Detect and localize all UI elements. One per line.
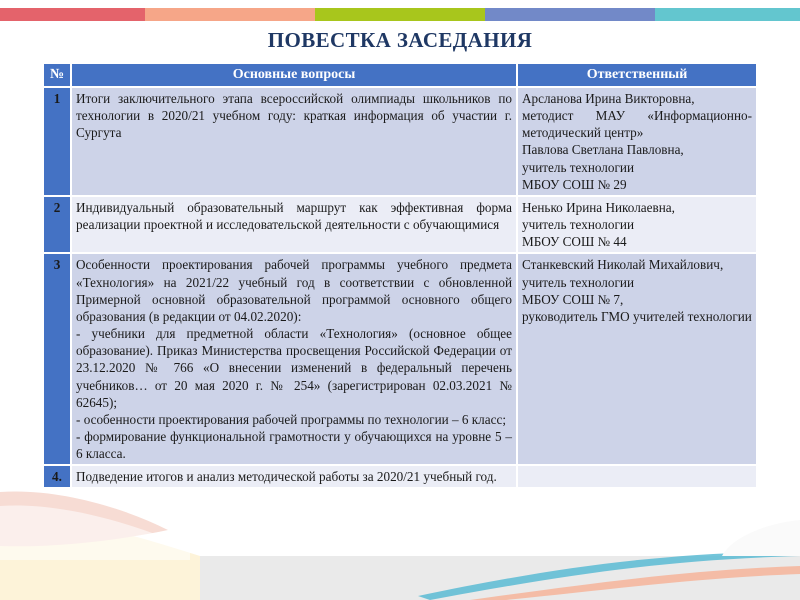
header-cell-question: Основные вопросы [72,64,516,86]
row-responsible-cell: Арсланова Ирина Викторовна, методист МАУ… [518,88,756,195]
header-cell-responsible: Ответственный [518,64,756,86]
question-text: Подведение итогов и анализ методической … [76,469,497,484]
row-responsible-cell: Станкевский Николай Михайлович, учитель … [518,254,756,464]
slide-title: ПОВЕСТКА ЗАСЕДАНИЯ [0,28,800,53]
responsible-line: Станкевский Николай Михайлович, [522,256,752,273]
responsible-line: Арсланова Ирина Викторовна, [522,90,752,107]
responsible-line: учитель технологии [522,216,752,233]
table-header-row: № Основные вопросы Ответственный [44,64,756,86]
question-text: Индивидуальный образовательный маршрут к… [76,200,512,232]
responsible-line: МБОУ СОШ № 29 [522,176,752,193]
topbar-segment-red [0,8,145,21]
row-number-cell: 1 [44,88,70,195]
table-row: 1 Итоги заключительного этапа всероссийс… [44,88,756,195]
responsible-line: руководитель ГМО учителей технологии [522,308,752,325]
row-number-cell: 2 [44,197,70,252]
responsible-line: Ненько Ирина Николаевна, [522,199,752,216]
row-responsible-cell: Ненько Ирина Николаевна, учитель техноло… [518,197,756,252]
question-text: Итоги заключительного этапа всероссийско… [76,91,512,140]
row-question-cell: Особенности проектирования рабочей прогр… [72,254,516,464]
topbar-segment-teal [655,8,800,21]
top-color-bar [0,8,800,21]
responsible-line: МБОУ СОШ № 44 [522,233,752,250]
row-question-cell: Подведение итогов и анализ методической … [72,466,516,487]
row-question-cell: Индивидуальный образовательный маршрут к… [72,197,516,252]
question-paragraph: - учебники для предметной области «Техно… [76,325,512,411]
header-cell-number: № [44,64,70,86]
responsible-line: МБОУ СОШ № 7, [522,291,752,308]
table-row: 3 Особенности проектирования рабочей про… [44,254,756,464]
agenda-table-wrapper: № Основные вопросы Ответственный 1 Итоги… [42,62,758,489]
row-question-cell: Итоги заключительного этапа всероссийско… [72,88,516,195]
responsible-line: Павлова Светлана Павловна, [522,141,752,158]
question-paragraph: Особенности проектирования рабочей прогр… [76,256,512,325]
table-row: 2 Индивидуальный образовательный маршрут… [44,197,756,252]
row-number-cell: 4. [44,466,70,487]
slide-canvas: ПОВЕСТКА ЗАСЕДАНИЯ № Основные вопросы От… [0,0,800,600]
topbar-segment-green [315,8,485,21]
agenda-table: № Основные вопросы Ответственный 1 Итоги… [42,62,758,489]
topbar-segment-blue [485,8,655,21]
question-paragraph: - особенности проектирования рабочей про… [76,411,512,428]
question-paragraph: - формирование функциональной грамотност… [76,428,512,462]
row-number-cell: 3 [44,254,70,464]
responsible-line: методист МАУ «Информационно-методический… [522,107,752,141]
table-row: 4. Подведение итогов и анализ методическ… [44,466,756,487]
topbar-segment-salmon [145,8,315,21]
responsible-line: учитель технологии [522,274,752,291]
responsible-line: учитель технологии [522,159,752,176]
row-responsible-cell [518,466,756,487]
